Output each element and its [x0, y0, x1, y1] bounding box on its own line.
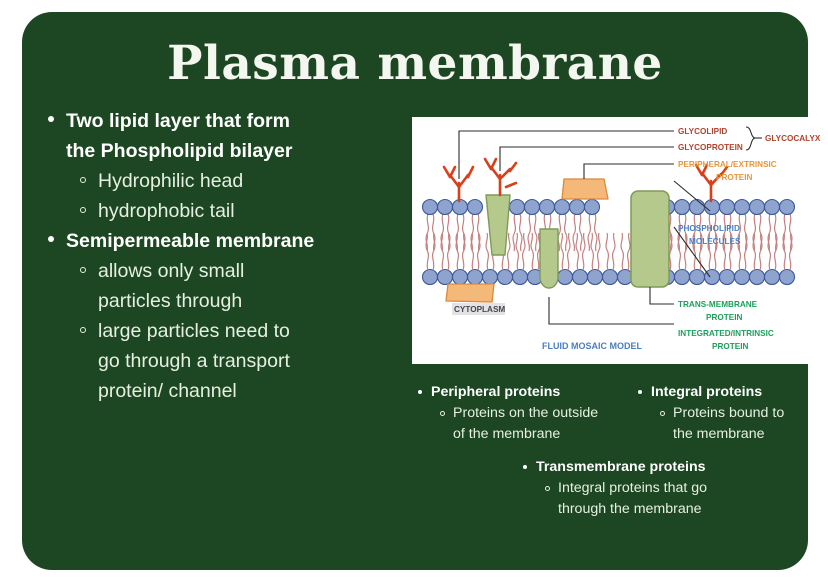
bullet-level1: Integral proteins — [632, 382, 828, 403]
label-trans-membrane-protein: TRANS-MEMBRANE — [678, 300, 758, 309]
label-phospholipid-molecules: PHOSPHOLIPID — [678, 224, 740, 233]
bullet-text-line: hydrophobic tail — [98, 200, 235, 222]
label-glycoprotein: GLYCOPROTEIN — [678, 143, 743, 152]
slide-card: Plasma membrane Two lipid layer that for… — [22, 12, 808, 570]
list-item: hydrophobic tail — [36, 196, 396, 226]
bullet-text-line: Integral proteins that go — [558, 480, 707, 496]
label-cytoplasm: CYTOPLASM — [454, 305, 505, 314]
sub-bullet-list: allows only small particles through larg… — [36, 256, 396, 406]
bullet-level2-cont: protein/ channel — [36, 376, 396, 406]
bullet-level2-cont: particles through — [36, 286, 396, 316]
fluid-mosaic-model-diagram: GLYCOLIPID GLYCOPROTEIN GLYCOCALYX PERIP… — [412, 117, 828, 364]
bullet-level2: Integral proteins that go — [517, 478, 807, 499]
list-item: Hydrophilic head — [36, 166, 396, 196]
list-item: allows only small particles through — [36, 256, 396, 316]
bullet-text-line: large particles need to — [98, 320, 290, 342]
bullet-level2-cont: go through a transport — [36, 346, 396, 376]
bullet-text-line: allows only small — [98, 260, 244, 282]
bullet-level2: Proteins bound to — [632, 403, 828, 424]
bullet-ring-icon — [660, 411, 665, 416]
bullet-level1: Two lipid layer that form — [36, 106, 396, 136]
bullet-level2: large particles need to — [36, 316, 396, 346]
slide-root: Plasma membrane Two lipid layer that for… — [0, 0, 828, 586]
bullet-text-line: Hydrophilic head — [98, 170, 243, 192]
bullet-level1-cont: the Phospholipid bilayer — [36, 136, 396, 166]
bullet-text-line: Peripheral proteins — [431, 384, 560, 400]
label-integrated-intrinsic-protein: INTEGRATED/INTRINSIC — [678, 329, 774, 338]
label-phospholipid-molecules-line2: MOLECULES — [689, 237, 741, 246]
bullet-text-line: Two lipid layer that form — [66, 110, 290, 132]
bullet-text-line: Proteins bound to — [673, 405, 784, 421]
label-peripheral-extrinsic-protein: PERIPHERAL/EXTRINSIC — [678, 160, 777, 169]
bullet-ring-icon — [80, 207, 86, 213]
bullet-level2: Proteins on the outside — [412, 403, 627, 424]
bullet-dot-icon — [638, 390, 642, 394]
bullet-text-line: Semipermeable membrane — [66, 230, 314, 252]
peripheral-proteins-group: Peripheral proteins Proteins on the outs… — [412, 382, 627, 445]
bullet-ring-icon — [545, 486, 550, 491]
bullet-level2: allows only small — [36, 256, 396, 286]
bullet-text-line: through the membrane — [558, 501, 702, 517]
peripheral-protein-bottom — [446, 284, 494, 302]
bullet-level2: hydrophobic tail — [36, 196, 396, 226]
label-glycocalyx: GLYCOCALYX — [765, 134, 821, 143]
left-bullet-list: Two lipid layer that form the Phospholip… — [36, 106, 396, 406]
transmembrane-proteins-group: Transmembrane proteins Integral proteins… — [517, 457, 807, 520]
label-glycolipid: GLYCOLIPID — [678, 127, 727, 136]
bullet-level2: Hydrophilic head — [36, 166, 396, 196]
bullet-text-line: Transmembrane proteins — [536, 459, 706, 475]
list-item: large particles need to go through a tra… — [36, 316, 396, 406]
bullet-level1: Transmembrane proteins — [517, 457, 807, 478]
sub-bullet-list: Hydrophilic head hydrophobic tail — [36, 166, 396, 226]
left-bullet-column: Two lipid layer that form the Phospholip… — [36, 106, 396, 406]
bullet-text-line: protein/ channel — [98, 380, 237, 402]
bullet-text-line: the membrane — [673, 426, 764, 442]
integrated-intrinsic-protein — [540, 229, 558, 288]
bullet-level2-cont: the membrane — [632, 424, 828, 445]
bullet-dot-icon — [48, 116, 54, 122]
list-item: Semipermeable membrane allows only small… — [36, 226, 396, 406]
bullet-ring-icon — [80, 177, 86, 183]
peripheral-protein-top — [562, 179, 608, 199]
bullet-dot-icon — [48, 236, 54, 242]
bullet-text-line: the Phospholipid bilayer — [66, 140, 292, 162]
bullet-ring-icon — [440, 411, 445, 416]
glycocalyx-brace — [746, 127, 762, 150]
label-integrated-intrinsic-protein-line2: PROTEIN — [712, 342, 748, 351]
bullet-ring-icon — [80, 267, 86, 273]
intrinsic-protein-wedge — [486, 195, 510, 255]
bullet-ring-icon — [80, 327, 86, 333]
label-peripheral-extrinsic-protein-line2: PROTEIN — [716, 173, 752, 182]
list-item: Two lipid layer that form the Phospholip… — [36, 106, 396, 226]
page-title: Plasma membrane — [22, 36, 808, 92]
bullet-text-line: go through a transport — [98, 350, 290, 372]
bullet-text-line: Proteins on the outside — [453, 405, 598, 421]
bullet-text-line: particles through — [98, 290, 242, 312]
bullet-level1: Semipermeable membrane — [36, 226, 396, 256]
bullet-text-line: of the membrane — [453, 426, 560, 442]
label-trans-membrane-protein-line2: PROTEIN — [706, 313, 742, 322]
integral-proteins-group: Integral proteins Proteins bound to the … — [632, 382, 828, 445]
bullet-dot-icon — [523, 465, 527, 469]
diagram-caption: FLUID MOSAIC MODEL — [542, 341, 642, 351]
trans-membrane-protein — [631, 191, 669, 287]
bullet-level2-cont: through the membrane — [517, 499, 807, 520]
glycolipid-branch-right — [696, 165, 727, 201]
bullet-level2-cont: of the membrane — [412, 424, 627, 445]
bullet-level1: Peripheral proteins — [412, 382, 627, 403]
bullet-text-line: Integral proteins — [651, 384, 762, 400]
bullet-dot-icon — [418, 390, 422, 394]
